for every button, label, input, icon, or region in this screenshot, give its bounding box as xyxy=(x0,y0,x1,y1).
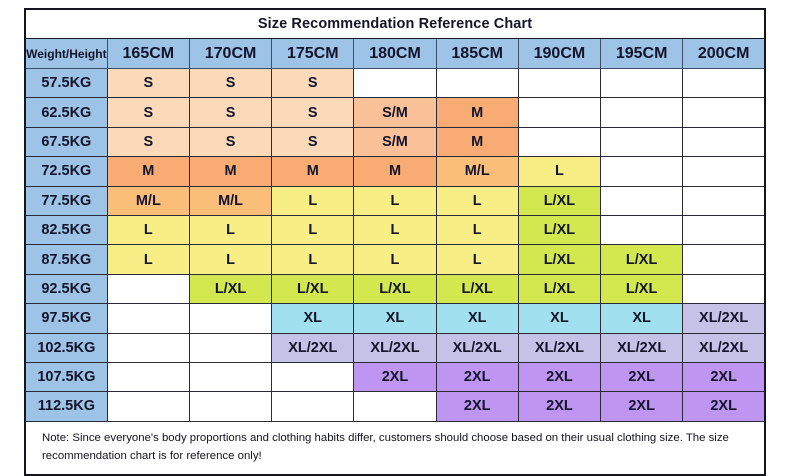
size-cell-102.5kg-185cm: XL/2XL xyxy=(436,333,518,362)
size-cell-87.5kg-175cm: L xyxy=(272,245,354,274)
table-row: 57.5KGSSS xyxy=(25,69,765,98)
size-cell-57.5kg-200cm xyxy=(683,69,765,98)
size-cell-107.5kg-180cm: 2XL xyxy=(354,362,436,391)
size-cell-67.5kg-200cm xyxy=(683,127,765,156)
size-cell-82.5kg-190cm: L/XL xyxy=(518,215,600,244)
size-cell-102.5kg-200cm: XL/2XL xyxy=(683,333,765,362)
size-cell-92.5kg-185cm: L/XL xyxy=(436,274,518,303)
size-cell-67.5kg-190cm xyxy=(518,127,600,156)
column-header-200cm: 200CM xyxy=(683,39,765,69)
size-cell-67.5kg-185cm: M xyxy=(436,127,518,156)
size-cell-57.5kg-195cm xyxy=(601,69,683,98)
size-cell-97.5kg-195cm: XL xyxy=(601,304,683,333)
table-row: 62.5KGSSSS/MM xyxy=(25,98,765,127)
column-header-190cm: 190CM xyxy=(518,39,600,69)
row-header-77.5kg: 77.5KG xyxy=(25,186,107,215)
size-cell-112.5kg-165cm xyxy=(107,392,189,421)
size-cell-97.5kg-175cm: XL xyxy=(272,304,354,333)
row-header-92.5kg: 92.5KG xyxy=(25,274,107,303)
size-cell-107.5kg-165cm xyxy=(107,362,189,391)
size-cell-97.5kg-180cm: XL xyxy=(354,304,436,333)
size-cell-87.5kg-195cm: L/XL xyxy=(601,245,683,274)
size-cell-87.5kg-185cm: L xyxy=(436,245,518,274)
table-row: 107.5KG2XL2XL2XL2XL2XL xyxy=(25,362,765,391)
size-cell-57.5kg-180cm xyxy=(354,69,436,98)
row-header-57.5kg: 57.5KG xyxy=(25,69,107,98)
size-cell-82.5kg-195cm xyxy=(601,215,683,244)
size-cell-92.5kg-180cm: L/XL xyxy=(354,274,436,303)
size-cell-87.5kg-170cm: L xyxy=(189,245,271,274)
size-cell-62.5kg-200cm xyxy=(683,98,765,127)
size-cell-57.5kg-190cm xyxy=(518,69,600,98)
table-row: 82.5KGLLLLLL/XL xyxy=(25,215,765,244)
size-cell-67.5kg-175cm: S xyxy=(272,127,354,156)
row-header-87.5kg: 87.5KG xyxy=(25,245,107,274)
column-header-185cm: 185CM xyxy=(436,39,518,69)
size-cell-107.5kg-190cm: 2XL xyxy=(518,362,600,391)
size-cell-82.5kg-200cm xyxy=(683,215,765,244)
row-header-82.5kg: 82.5KG xyxy=(25,215,107,244)
size-cell-72.5kg-190cm: L xyxy=(518,157,600,186)
size-cell-77.5kg-195cm xyxy=(601,186,683,215)
size-cell-102.5kg-180cm: XL/2XL xyxy=(354,333,436,362)
size-cell-72.5kg-170cm: M xyxy=(189,157,271,186)
size-cell-82.5kg-170cm: L xyxy=(189,215,271,244)
chart-title: Size Recommendation Reference Chart xyxy=(25,9,765,39)
size-cell-67.5kg-180cm: S/M xyxy=(354,127,436,156)
size-cell-77.5kg-170cm: M/L xyxy=(189,186,271,215)
size-cell-62.5kg-195cm xyxy=(601,98,683,127)
size-cell-87.5kg-200cm xyxy=(683,245,765,274)
row-header-62.5kg: 62.5KG xyxy=(25,98,107,127)
size-cell-107.5kg-195cm: 2XL xyxy=(601,362,683,391)
column-header-row: Weight/Height165CM170CM175CM180CM185CM19… xyxy=(25,39,765,69)
table-row: 92.5KGL/XLL/XLL/XLL/XLL/XLL/XL xyxy=(25,274,765,303)
size-cell-97.5kg-165cm xyxy=(107,304,189,333)
row-header-72.5kg: 72.5KG xyxy=(25,157,107,186)
table-row: 102.5KGXL/2XLXL/2XLXL/2XLXL/2XLXL/2XLXL/… xyxy=(25,333,765,362)
size-cell-102.5kg-175cm: XL/2XL xyxy=(272,333,354,362)
size-cell-67.5kg-170cm: S xyxy=(189,127,271,156)
size-cell-112.5kg-175cm xyxy=(272,392,354,421)
size-recommendation-table: Size Recommendation Reference Chart Weig… xyxy=(24,8,766,476)
table-row: 97.5KGXLXLXLXLXLXL/2XL xyxy=(25,304,765,333)
column-header-195cm: 195CM xyxy=(601,39,683,69)
size-cell-82.5kg-175cm: L xyxy=(272,215,354,244)
size-cell-102.5kg-170cm xyxy=(189,333,271,362)
row-header-112.5kg: 112.5KG xyxy=(25,392,107,421)
title-row: Size Recommendation Reference Chart xyxy=(25,9,765,39)
size-cell-67.5kg-165cm: S xyxy=(107,127,189,156)
size-cell-77.5kg-200cm xyxy=(683,186,765,215)
size-cell-97.5kg-200cm: XL/2XL xyxy=(683,304,765,333)
size-cell-107.5kg-200cm: 2XL xyxy=(683,362,765,391)
size-cell-57.5kg-185cm xyxy=(436,69,518,98)
size-cell-77.5kg-180cm: L xyxy=(354,186,436,215)
size-cell-72.5kg-185cm: M/L xyxy=(436,157,518,186)
size-cell-92.5kg-195cm: L/XL xyxy=(601,274,683,303)
size-cell-57.5kg-175cm: S xyxy=(272,69,354,98)
size-cell-57.5kg-170cm: S xyxy=(189,69,271,98)
size-cell-112.5kg-200cm: 2XL xyxy=(683,392,765,421)
size-cell-107.5kg-175cm xyxy=(272,362,354,391)
size-cell-62.5kg-190cm xyxy=(518,98,600,127)
column-header-175cm: 175CM xyxy=(272,39,354,69)
size-cell-107.5kg-185cm: 2XL xyxy=(436,362,518,391)
size-cell-57.5kg-165cm: S xyxy=(107,69,189,98)
size-cell-92.5kg-165cm xyxy=(107,274,189,303)
size-cell-97.5kg-170cm xyxy=(189,304,271,333)
size-cell-72.5kg-175cm: M xyxy=(272,157,354,186)
size-cell-82.5kg-185cm: L xyxy=(436,215,518,244)
table-row: 77.5KGM/LM/LLLLL/XL xyxy=(25,186,765,215)
size-cell-92.5kg-200cm xyxy=(683,274,765,303)
column-header-170cm: 170CM xyxy=(189,39,271,69)
row-header-102.5kg: 102.5KG xyxy=(25,333,107,362)
column-header-165cm: 165CM xyxy=(107,39,189,69)
size-cell-77.5kg-190cm: L/XL xyxy=(518,186,600,215)
table-row: 67.5KGSSSS/MM xyxy=(25,127,765,156)
corner-header: Weight/Height xyxy=(25,39,107,69)
footer-note: Note: Since everyone's body proportions … xyxy=(25,421,765,475)
size-cell-97.5kg-185cm: XL xyxy=(436,304,518,333)
row-header-67.5kg: 67.5KG xyxy=(25,127,107,156)
size-cell-102.5kg-165cm xyxy=(107,333,189,362)
column-header-180cm: 180CM xyxy=(354,39,436,69)
row-header-97.5kg: 97.5KG xyxy=(25,304,107,333)
size-cell-112.5kg-195cm: 2XL xyxy=(601,392,683,421)
size-cell-87.5kg-180cm: L xyxy=(354,245,436,274)
table-row: 87.5KGLLLLLL/XLL/XL xyxy=(25,245,765,274)
size-cell-62.5kg-175cm: S xyxy=(272,98,354,127)
size-cell-67.5kg-195cm xyxy=(601,127,683,156)
size-cell-82.5kg-180cm: L xyxy=(354,215,436,244)
size-cell-92.5kg-175cm: L/XL xyxy=(272,274,354,303)
size-cell-102.5kg-190cm: XL/2XL xyxy=(518,333,600,362)
size-cell-92.5kg-190cm: L/XL xyxy=(518,274,600,303)
size-cell-72.5kg-200cm xyxy=(683,157,765,186)
size-cell-77.5kg-185cm: L xyxy=(436,186,518,215)
size-cell-112.5kg-185cm: 2XL xyxy=(436,392,518,421)
size-cell-112.5kg-180cm xyxy=(354,392,436,421)
size-cell-62.5kg-180cm: S/M xyxy=(354,98,436,127)
size-cell-87.5kg-190cm: L/XL xyxy=(518,245,600,274)
size-cell-112.5kg-190cm: 2XL xyxy=(518,392,600,421)
size-cell-72.5kg-165cm: M xyxy=(107,157,189,186)
table-row: 112.5KG2XL2XL2XL2XL xyxy=(25,392,765,421)
size-cell-82.5kg-165cm: L xyxy=(107,215,189,244)
size-cell-97.5kg-190cm: XL xyxy=(518,304,600,333)
size-cell-72.5kg-195cm xyxy=(601,157,683,186)
row-header-107.5kg: 107.5KG xyxy=(25,362,107,391)
size-cell-92.5kg-170cm: L/XL xyxy=(189,274,271,303)
size-cell-112.5kg-170cm xyxy=(189,392,271,421)
size-cell-87.5kg-165cm: L xyxy=(107,245,189,274)
note-row: Note: Since everyone's body proportions … xyxy=(25,421,765,475)
table-row: 72.5KGMMMMM/LL xyxy=(25,157,765,186)
size-cell-77.5kg-165cm: M/L xyxy=(107,186,189,215)
size-chart-container: Size Recommendation Reference Chart Weig… xyxy=(24,8,766,442)
table-body: Size Recommendation Reference Chart Weig… xyxy=(25,9,765,475)
size-cell-62.5kg-165cm: S xyxy=(107,98,189,127)
size-cell-107.5kg-170cm xyxy=(189,362,271,391)
size-cell-72.5kg-180cm: M xyxy=(354,157,436,186)
size-cell-62.5kg-170cm: S xyxy=(189,98,271,127)
size-cell-62.5kg-185cm: M xyxy=(436,98,518,127)
size-cell-102.5kg-195cm: XL/2XL xyxy=(601,333,683,362)
size-cell-77.5kg-175cm: L xyxy=(272,186,354,215)
